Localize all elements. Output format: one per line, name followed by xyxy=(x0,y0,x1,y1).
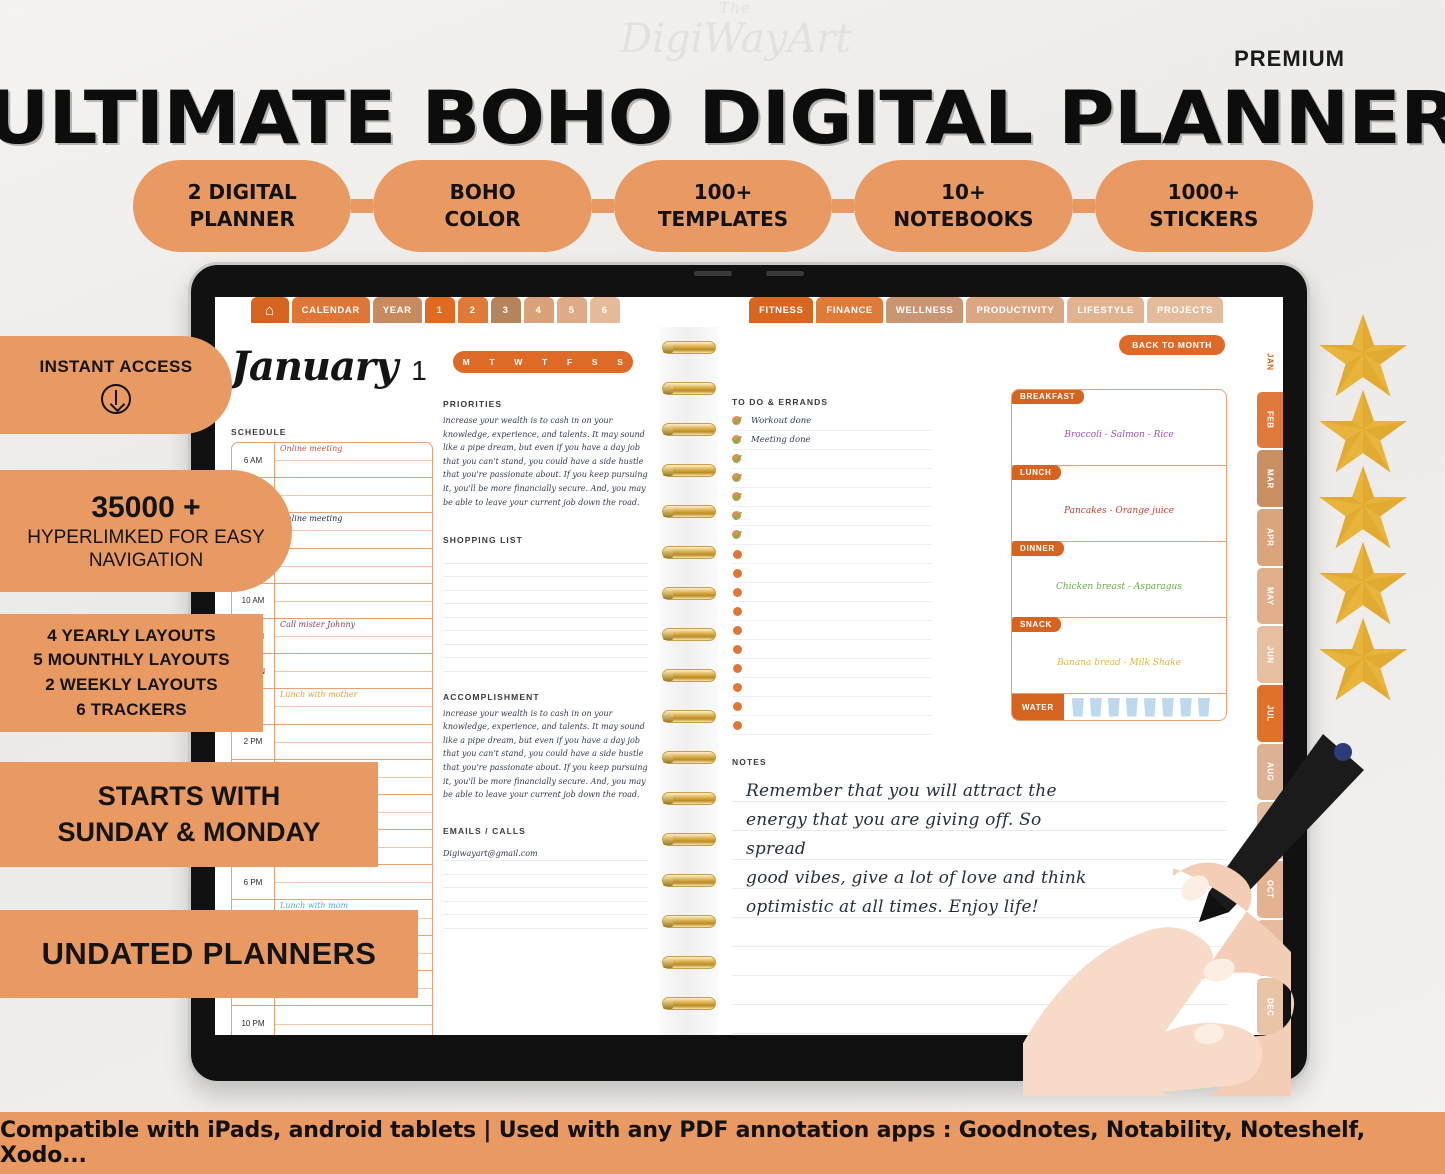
footer-text: Compatible with iPads, android tablets |… xyxy=(0,1118,1445,1168)
feature-pill-line2: STICKERS xyxy=(1149,206,1258,233)
top-tab-5[interactable]: 5 xyxy=(557,297,587,323)
schedule-entry-area[interactable] xyxy=(275,1006,432,1035)
todo-item[interactable] xyxy=(732,640,932,659)
meal-label: DINNER xyxy=(1011,541,1064,556)
weekday-initial[interactable]: F xyxy=(567,357,573,367)
feature-pill-line2: TEMPLATES xyxy=(658,206,788,233)
weekday-initial[interactable]: T xyxy=(542,357,548,367)
shopping-list-line[interactable] xyxy=(443,564,648,578)
month-name: January xyxy=(231,343,397,390)
top-tab-4[interactable]: 4 xyxy=(524,297,554,323)
schedule-time-label: 6 PM xyxy=(232,865,275,899)
shopping-list-lines[interactable] xyxy=(443,550,648,672)
layout-feature-line: 6 TRACKERS xyxy=(76,698,187,723)
top-tabs-left-group: ⌂CALENDARYEAR123456 xyxy=(215,297,620,327)
home-icon[interactable]: ⌂ xyxy=(251,297,289,323)
spiral-ring xyxy=(662,710,716,723)
instant-access-label: INSTANT ACCESS xyxy=(40,357,193,377)
notes-rule-line[interactable] xyxy=(732,889,1227,918)
schedule-entry-area[interactable] xyxy=(275,654,432,688)
starts-with-line2: SUNDAY & MONDAY xyxy=(57,815,320,850)
layout-feature-line: 5 MOUNTHLY LAYOUTS xyxy=(33,648,230,673)
schedule-entry-area[interactable]: Lunch with mother xyxy=(275,689,432,723)
pill-connector xyxy=(1073,199,1095,213)
schedule-entry-area[interactable] xyxy=(275,478,432,512)
notes-section: NOTES Remember that you will attract the… xyxy=(732,757,1227,1034)
todo-item[interactable] xyxy=(732,621,932,640)
weekday-initial[interactable]: M xyxy=(463,357,471,367)
spiral-ring xyxy=(662,997,716,1010)
emails-calls-label: EMAILS / CALLS xyxy=(443,826,648,836)
emails-calls-line[interactable] xyxy=(443,902,648,916)
bullet-dot-icon[interactable] xyxy=(732,662,745,675)
planner-top-navigation: ⌂CALENDARYEAR123456 FITNESSFINANCEWELLNE… xyxy=(215,297,1283,327)
bullet-dot-icon[interactable] xyxy=(732,567,745,580)
emails-calls-line[interactable] xyxy=(443,861,648,875)
schedule-half-hour-rule xyxy=(275,460,432,461)
shopping-list-line[interactable] xyxy=(443,658,648,672)
todo-item[interactable]: ✔ xyxy=(732,526,932,545)
weekday-initial[interactable]: W xyxy=(514,357,523,367)
notes-rule-line[interactable] xyxy=(732,918,1227,947)
top-tab-6[interactable]: 6 xyxy=(590,297,620,323)
schedule-entry-area[interactable]: Call mister Johnny xyxy=(275,619,432,653)
feature-pill-line2: COLOR xyxy=(445,206,521,233)
check-icon[interactable]: ✔ xyxy=(732,491,745,504)
todo-item[interactable]: ✔ xyxy=(732,507,932,526)
spiral-ring xyxy=(662,628,716,641)
top-tab-year[interactable]: YEAR xyxy=(373,297,422,323)
todo-item[interactable]: ✔ xyxy=(732,469,932,488)
spiral-ring xyxy=(662,751,716,764)
shopping-list-line[interactable] xyxy=(443,550,648,564)
water-glass-icon[interactable] xyxy=(1180,698,1192,717)
back-to-month-button[interactable]: BACK TO MONTH xyxy=(1119,335,1225,355)
schedule-entry-area[interactable] xyxy=(275,725,432,759)
schedule-half-hour-rule xyxy=(275,706,432,707)
notes-rule-line[interactable] xyxy=(732,831,1227,860)
check-icon[interactable]: ✔ xyxy=(732,453,745,466)
notes-label: NOTES xyxy=(732,757,1227,767)
check-icon[interactable]: ✔ xyxy=(732,529,745,542)
feature-pill-line2: NOTEBOOKS xyxy=(893,206,1033,233)
water-glass-icon[interactable] xyxy=(1090,698,1102,717)
water-glass-tracker[interactable] xyxy=(1064,698,1210,717)
feature-pill-line1: 1000+ xyxy=(1168,179,1240,206)
schedule-slot[interactable]: 6 PM xyxy=(232,865,432,900)
meal-row: SNACKBanana bread - Milk Shake xyxy=(1012,618,1226,694)
todo-item[interactable]: ✔ xyxy=(732,488,932,507)
rating-stars xyxy=(1303,312,1423,704)
spiral-ring xyxy=(662,669,716,682)
todo-item[interactable] xyxy=(732,564,932,583)
feature-pill-line1: 10+ xyxy=(941,179,986,206)
todo-item[interactable] xyxy=(732,716,932,735)
top-tab-2[interactable]: 2 xyxy=(458,297,488,323)
feature-pill-line1: 2 DIGITAL xyxy=(188,179,297,206)
meal-planner-card: BREAKFASTBroccoli - Salmon - RiceLUNCHPa… xyxy=(1011,389,1227,721)
meal-row: LUNCHPancakes - Orange juice xyxy=(1012,466,1226,542)
todo-item-text[interactable]: Meeting done xyxy=(751,435,811,445)
hyperlinked-text-line2: NAVIGATION xyxy=(89,549,203,572)
badge-undated-planners: UNDATED PLANNERS xyxy=(0,910,418,998)
schedule-entry-area[interactable] xyxy=(275,549,432,583)
download-icon xyxy=(101,384,131,414)
day-number: 1 xyxy=(411,355,426,386)
meal-row: BREAKFASTBroccoli - Salmon - Rice xyxy=(1012,390,1226,466)
todo-item[interactable] xyxy=(732,678,932,697)
meal-value[interactable]: Broccoli - Salmon - Rice xyxy=(1064,430,1173,440)
notes-rule-line[interactable] xyxy=(732,860,1227,889)
watermark-top-text: The xyxy=(620,0,850,17)
hyperlinked-count: 35000 + xyxy=(91,490,200,527)
schedule-event[interactable]: Online meeting xyxy=(280,444,342,453)
hyperlinked-text-line1: HYPERLIMKED FOR EASY xyxy=(27,526,265,549)
spiral-ring xyxy=(662,833,716,846)
schedule-half-hour-rule xyxy=(275,495,432,496)
pill-connector xyxy=(592,199,614,213)
schedule-slot[interactable]: 10 PM xyxy=(232,1006,432,1035)
feature-pill: 2 DIGITALPLANNER xyxy=(133,160,351,252)
page-title: ULTIMATE BOHO DIGITAL PLANNER xyxy=(0,76,1445,161)
spiral-ring xyxy=(662,382,716,395)
feature-pill-line1: BOHO xyxy=(450,179,516,206)
check-icon[interactable]: ✔ xyxy=(732,434,745,447)
bullet-dot-icon[interactable] xyxy=(732,605,745,618)
todo-item[interactable] xyxy=(732,583,932,602)
feature-pill: 1000+STICKERS xyxy=(1095,160,1313,252)
top-tab-projects[interactable]: PROJECTS xyxy=(1147,297,1223,323)
accomplishment-label: ACCOMPLISHMENT xyxy=(443,692,648,702)
schedule-half-hour-rule xyxy=(275,636,432,637)
water-glass-icon[interactable] xyxy=(1198,698,1210,717)
water-glass-icon[interactable] xyxy=(1072,698,1084,717)
star-icon xyxy=(1317,388,1409,476)
badge-starts-with: STARTS WITH SUNDAY & MONDAY xyxy=(0,762,378,867)
month-tab-oct[interactable]: OCT xyxy=(1257,861,1283,918)
water-label: WATER xyxy=(1012,694,1064,720)
todo-errands-section: TO DO & ERRANDS ✔Workout done✔Meeting do… xyxy=(732,397,932,735)
watermark-main-text: DigiWayArt xyxy=(620,17,850,61)
notes-rule-line[interactable] xyxy=(732,1005,1227,1034)
schedule-event[interactable]: Call mister Johnny xyxy=(280,620,355,629)
weekday-initial[interactable]: T xyxy=(489,357,495,367)
month-tab-mar[interactable]: MAR xyxy=(1257,450,1283,507)
month-tab-feb[interactable]: FEB xyxy=(1257,392,1283,449)
star-icon xyxy=(1317,312,1409,400)
shopping-list-line[interactable] xyxy=(443,645,648,659)
badge-instant-access: INSTANT ACCESS xyxy=(0,336,232,434)
shopping-list-line[interactable] xyxy=(443,591,648,605)
badge-hyperlinked: 35000 + HYPERLIMKED FOR EASY NAVIGATION xyxy=(0,470,292,592)
month-tab-aug[interactable]: AUG xyxy=(1257,744,1283,801)
month-tab-jun[interactable]: JUN xyxy=(1257,626,1283,683)
priorities-label: PRIORITIES xyxy=(443,399,648,409)
month-tab-nov[interactable]: NOV xyxy=(1257,920,1283,977)
feature-pill-line1: 100+ xyxy=(694,179,753,206)
schedule-entry-area[interactable]: Online meeting xyxy=(275,443,432,477)
feature-pill: BOHOCOLOR xyxy=(373,160,591,252)
month-tab-dec[interactable]: DEC xyxy=(1257,978,1283,1035)
spiral-ring xyxy=(662,587,716,600)
bullet-dot-icon[interactable] xyxy=(732,700,745,713)
spiral-ring xyxy=(662,341,716,354)
bullet-dot-icon[interactable] xyxy=(732,548,745,561)
top-tabs-right-group: FITNESSFINANCEWELLNESSPRODUCTIVITYLIFEST… xyxy=(749,297,1283,327)
notes-rule-line[interactable] xyxy=(732,773,1227,802)
meal-value[interactable]: Chicken breast - Asparagus xyxy=(1056,582,1182,592)
emails-calls-lines[interactable] xyxy=(443,861,648,929)
month-tab-apr[interactable]: APR xyxy=(1257,509,1283,566)
weekday-initial[interactable]: S xyxy=(617,357,623,367)
todo-errands-label: TO DO & ERRANDS xyxy=(732,397,932,407)
todo-item[interactable]: ✔ xyxy=(732,450,932,469)
shopping-list-line[interactable] xyxy=(443,604,648,618)
schedule-event[interactable]: Lunch with mother xyxy=(280,690,357,699)
water-glass-icon[interactable] xyxy=(1144,698,1156,717)
month-tab-may[interactable]: MAY xyxy=(1257,568,1283,625)
spiral-ring xyxy=(662,505,716,518)
month-tab-rail: JANFEBMARAPRMAYJUNJULAUGSEPOCTNOVDEC xyxy=(1257,327,1283,1035)
priorities-text[interactable]: increase your wealth is to cash in on yo… xyxy=(443,414,648,509)
shopping-list-line[interactable] xyxy=(443,631,648,645)
todo-item[interactable]: ✔Meeting done xyxy=(732,431,932,450)
top-tab-3[interactable]: 3 xyxy=(491,297,521,323)
feature-pill: 10+NOTEBOOKS xyxy=(854,160,1072,252)
schedule-half-hour-rule xyxy=(275,882,432,883)
top-tab-fitness[interactable]: FITNESS xyxy=(749,297,813,323)
notes-rule-line[interactable] xyxy=(732,947,1227,976)
weekday-initial[interactable]: S xyxy=(592,357,598,367)
bullet-dot-icon[interactable] xyxy=(732,681,745,694)
layout-feature-line: 4 YEARLY LAYOUTS xyxy=(47,624,216,649)
shopping-list-line[interactable] xyxy=(443,577,648,591)
feature-pill-row: 2 DIGITALPLANNERBOHOCOLOR100+TEMPLATES10… xyxy=(133,160,1313,252)
notes-rule-line[interactable] xyxy=(732,976,1227,1005)
planner-right-page: BACK TO MONTH TO DO & ERRANDS ✔Workout d… xyxy=(718,327,1283,1035)
spiral-ring xyxy=(662,423,716,436)
emails-calls-line[interactable] xyxy=(443,915,648,929)
check-icon[interactable]: ✔ xyxy=(732,472,745,485)
meal-label: LUNCH xyxy=(1011,465,1061,480)
starts-with-line1: STARTS WITH xyxy=(98,779,280,814)
left-page-second-column: PRIORITIES increase your wealth is to ca… xyxy=(443,399,648,929)
compatibility-footer: Compatible with iPads, android tablets |… xyxy=(0,1112,1445,1174)
meal-label: BREAKFAST xyxy=(1011,389,1084,404)
feature-pill-line2: PLANNER xyxy=(189,206,294,233)
month-tab-jul[interactable]: JUL xyxy=(1257,685,1283,742)
schedule-time-label: 10 PM xyxy=(232,1006,275,1035)
schedule-half-hour-rule xyxy=(275,566,432,567)
schedule-label: SCHEDULE xyxy=(231,427,433,437)
spiral-ring xyxy=(662,464,716,477)
schedule-entry-area[interactable] xyxy=(275,865,432,899)
water-glass-icon[interactable] xyxy=(1108,698,1120,717)
bullet-dot-icon[interactable] xyxy=(732,719,745,732)
schedule-half-hour-rule xyxy=(275,671,432,672)
layout-feature-line: 2 WEEKLY LAYOUTS xyxy=(45,673,218,698)
schedule-entry-area[interactable]: Online meeting xyxy=(275,513,432,547)
emails-calls-line[interactable] xyxy=(443,888,648,902)
star-icon xyxy=(1317,464,1409,552)
top-tab-calendar[interactable]: CALENDAR xyxy=(292,297,370,323)
meal-value[interactable]: Banana bread - Milk Shake xyxy=(1057,658,1181,668)
schedule-half-hour-rule xyxy=(275,742,432,743)
todo-item[interactable]: ✔Workout done xyxy=(732,412,932,431)
todo-item[interactable] xyxy=(732,659,932,678)
top-tab-lifestyle[interactable]: LIFESTYLE xyxy=(1067,297,1144,323)
notes-rule-line[interactable] xyxy=(732,802,1227,831)
shopping-list-label: SHOPPING LIST xyxy=(443,535,648,545)
meal-label: SNACK xyxy=(1011,617,1061,632)
meal-row: DINNERChicken breast - Asparagus xyxy=(1012,542,1226,618)
month-tab-sep[interactable]: SEP xyxy=(1257,802,1283,859)
bullet-dot-icon[interactable] xyxy=(732,586,745,599)
badge-layouts: 4 YEARLY LAYOUTS5 MOUNTHLY LAYOUTS2 WEEK… xyxy=(0,614,263,732)
schedule-slot[interactable]: 6 AMOnline meeting xyxy=(232,443,432,478)
schedule-half-hour-rule xyxy=(275,601,432,602)
water-glass-icon[interactable] xyxy=(1126,698,1138,717)
todo-item[interactable] xyxy=(732,602,932,621)
bullet-dot-icon[interactable] xyxy=(732,643,745,656)
schedule-entry-area[interactable] xyxy=(275,584,432,618)
undated-label: UNDATED PLANNERS xyxy=(42,936,377,972)
water-glass-icon[interactable] xyxy=(1162,698,1174,717)
weekday-selector[interactable]: MTWTFSS xyxy=(453,351,633,373)
meal-value[interactable]: Pancakes - Orange juice xyxy=(1064,506,1174,516)
star-icon xyxy=(1317,540,1409,628)
schedule-half-hour-rule xyxy=(275,1024,432,1025)
bullet-dot-icon[interactable] xyxy=(732,624,745,637)
feature-pill: 100+TEMPLATES xyxy=(614,160,832,252)
spiral-ring xyxy=(662,792,716,805)
shopping-list-line[interactable] xyxy=(443,618,648,632)
todo-list: ✔Workout done✔Meeting done✔✔✔✔✔ xyxy=(732,412,932,735)
top-tab-finance[interactable]: FINANCE xyxy=(816,297,882,323)
spiral-ring xyxy=(662,874,716,887)
top-tab-1[interactable]: 1 xyxy=(425,297,455,323)
todo-item[interactable] xyxy=(732,545,932,564)
water-row: WATER xyxy=(1012,694,1226,720)
premium-label: PREMIUM xyxy=(1234,46,1345,72)
notes-lines-wrap[interactable]: Remember that you will attract theenergy… xyxy=(732,773,1227,1034)
spiral-ring xyxy=(662,956,716,969)
emails-calls-value[interactable]: Digiwayart@gmail.com xyxy=(443,841,648,862)
top-tab-productivity[interactable]: PRODUCTIVITY xyxy=(966,297,1064,323)
spiral-ring xyxy=(662,546,716,559)
pill-connector xyxy=(832,199,854,213)
spiral-ring xyxy=(662,915,716,928)
schedule-half-hour-rule xyxy=(275,530,432,531)
pill-connector xyxy=(351,199,373,213)
top-tab-wellness[interactable]: WELLNESS xyxy=(886,297,964,323)
spiral-binding xyxy=(660,327,718,1035)
check-icon[interactable]: ✔ xyxy=(732,510,745,523)
accomplishment-text[interactable]: increase your wealth is to cash in on yo… xyxy=(443,707,648,802)
emails-calls-line[interactable] xyxy=(443,875,648,889)
todo-item-text[interactable]: Workout done xyxy=(751,416,811,426)
todo-item[interactable] xyxy=(732,697,932,716)
month-tab-jan[interactable]: JAN xyxy=(1257,333,1283,390)
check-icon[interactable]: ✔ xyxy=(732,415,745,428)
star-icon xyxy=(1317,616,1409,704)
